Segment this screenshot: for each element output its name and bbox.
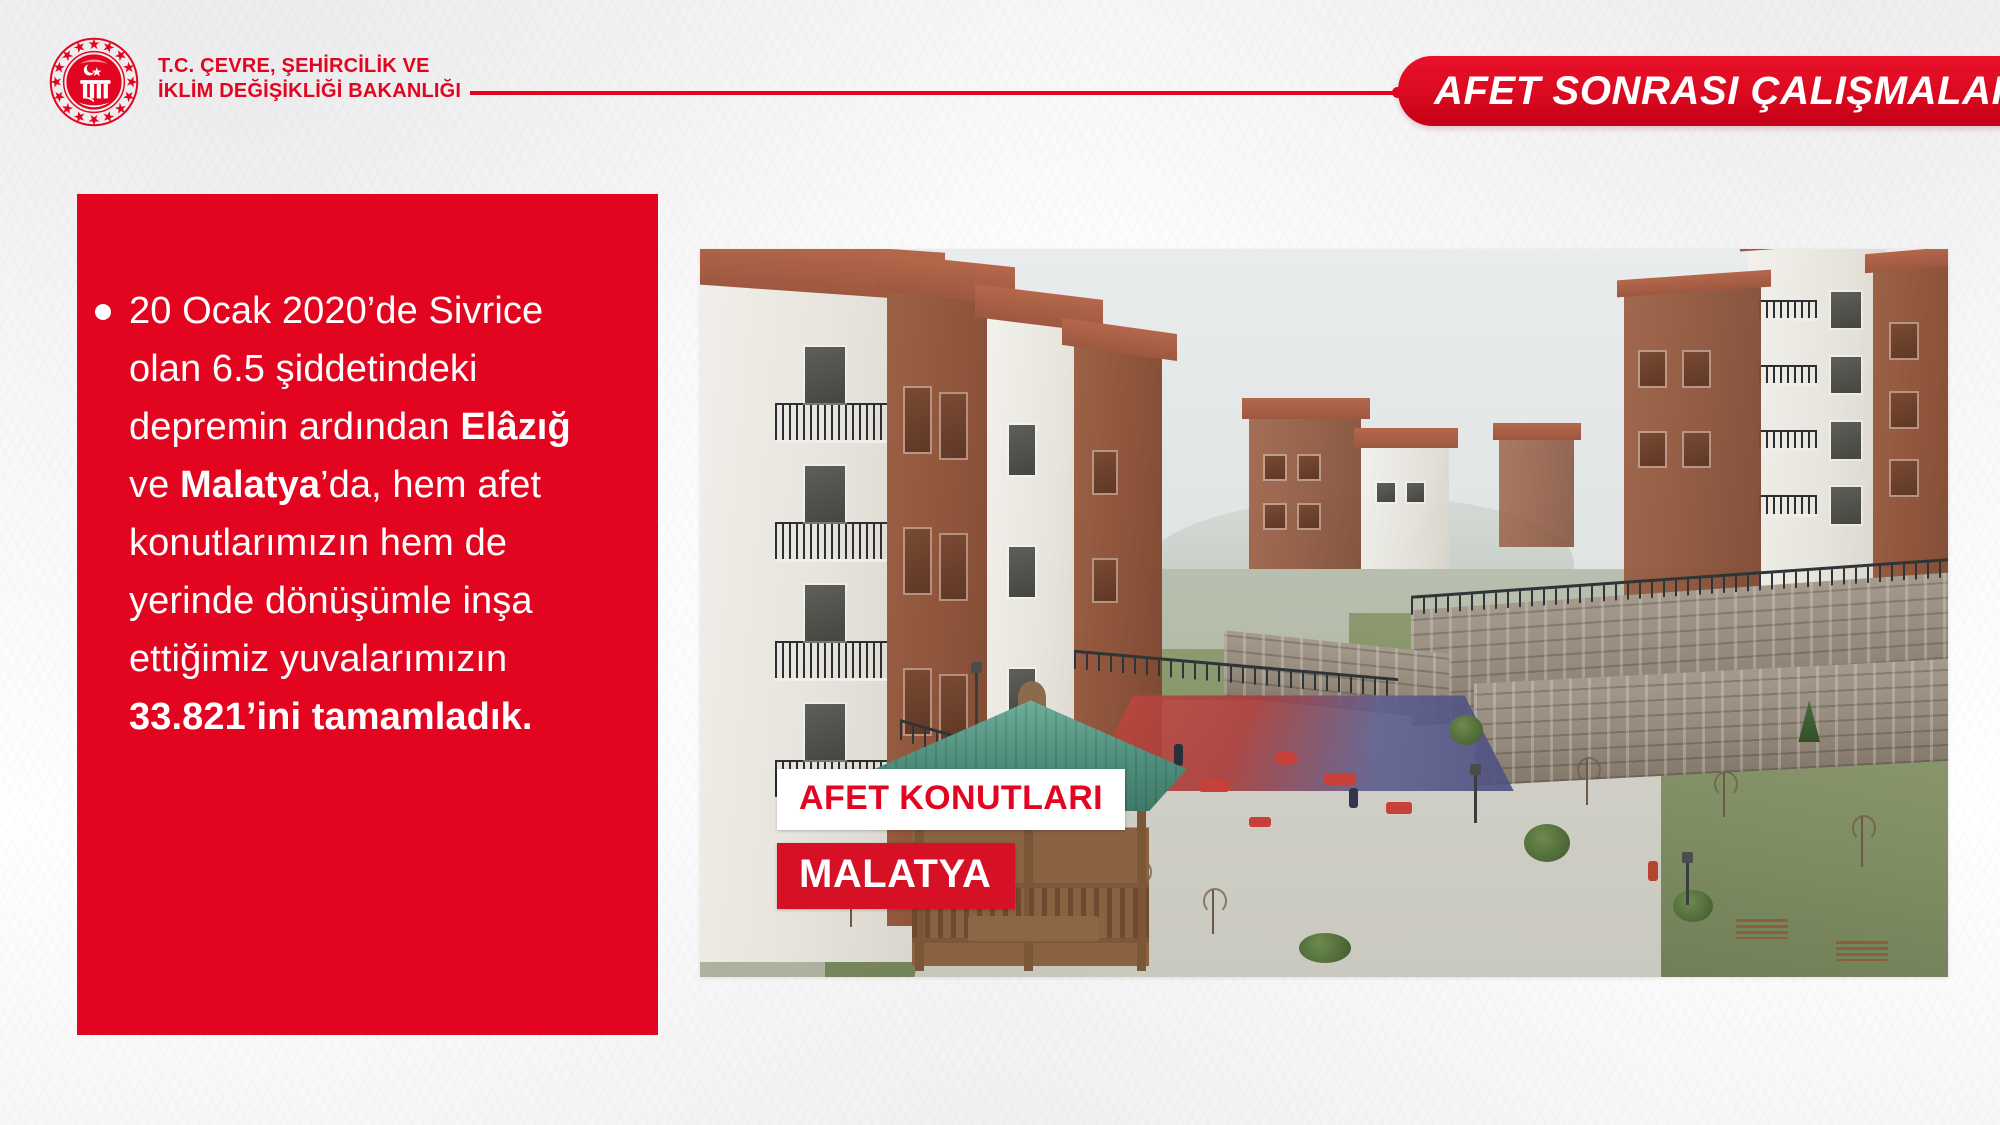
ministry-title: T.C. ÇEVRE, ŞEHİRCİLİK VE İKLİM DEĞİŞİKL… [158, 54, 461, 104]
sapling [1212, 890, 1214, 934]
person-figure [1349, 788, 1358, 808]
photo-caption-primary-label: AFET KONUTLARI [799, 779, 1103, 817]
section-banner-label: AFET SONRASI ÇALIŞMALAR [1398, 69, 2000, 114]
lamp-post [1474, 773, 1477, 823]
lamp-post [1686, 861, 1689, 905]
park-bench [1836, 941, 1888, 961]
building-mid-c [1499, 438, 1574, 547]
photo-caption-primary: AFET KONUTLARI [777, 769, 1125, 830]
sapling [1861, 817, 1863, 867]
play-equipment [1324, 773, 1356, 785]
bullet-text: 20 Ocak 2020’de Sivrice olan 6.5 şiddeti… [129, 282, 589, 746]
building-right-c [1624, 285, 1761, 620]
shrub [1673, 890, 1713, 922]
park-bench [1736, 919, 1788, 939]
person-figure [1648, 861, 1658, 881]
gazebo-table [968, 916, 1099, 941]
slide-root: T.C. ÇEVRE, ŞEHİRCİLİK VE İKLİM DEĞİŞİKL… [0, 0, 2000, 1125]
shrub [1449, 715, 1483, 745]
gazebo [875, 700, 1187, 977]
ministry-emblem-icon [48, 36, 140, 128]
building-mid-a [1249, 416, 1361, 569]
slide-header: T.C. ÇEVRE, ŞEHİRCİLİK VE İKLİM DEĞİŞİKL… [0, 0, 2000, 160]
sapling [1723, 773, 1725, 817]
header-divider-rule [470, 91, 1400, 95]
photo-caption-secondary-label: MALATYA [799, 852, 991, 896]
photo-caption-secondary: MALATYA [777, 843, 1015, 909]
statement-panel: 20 Ocak 2020’de Sivrice olan 6.5 şiddeti… [77, 194, 658, 1035]
section-banner: AFET SONRASI ÇALIŞMALAR [1398, 56, 2000, 126]
play-equipment [1386, 802, 1412, 814]
play-equipment [1249, 817, 1271, 827]
sapling [1586, 759, 1588, 805]
bullet-point-icon [95, 304, 111, 320]
play-equipment [1199, 780, 1229, 792]
bullet-list-item: 20 Ocak 2020’de Sivrice olan 6.5 şiddeti… [95, 282, 640, 746]
shrub [1524, 824, 1570, 862]
building-mid-b [1361, 446, 1448, 570]
